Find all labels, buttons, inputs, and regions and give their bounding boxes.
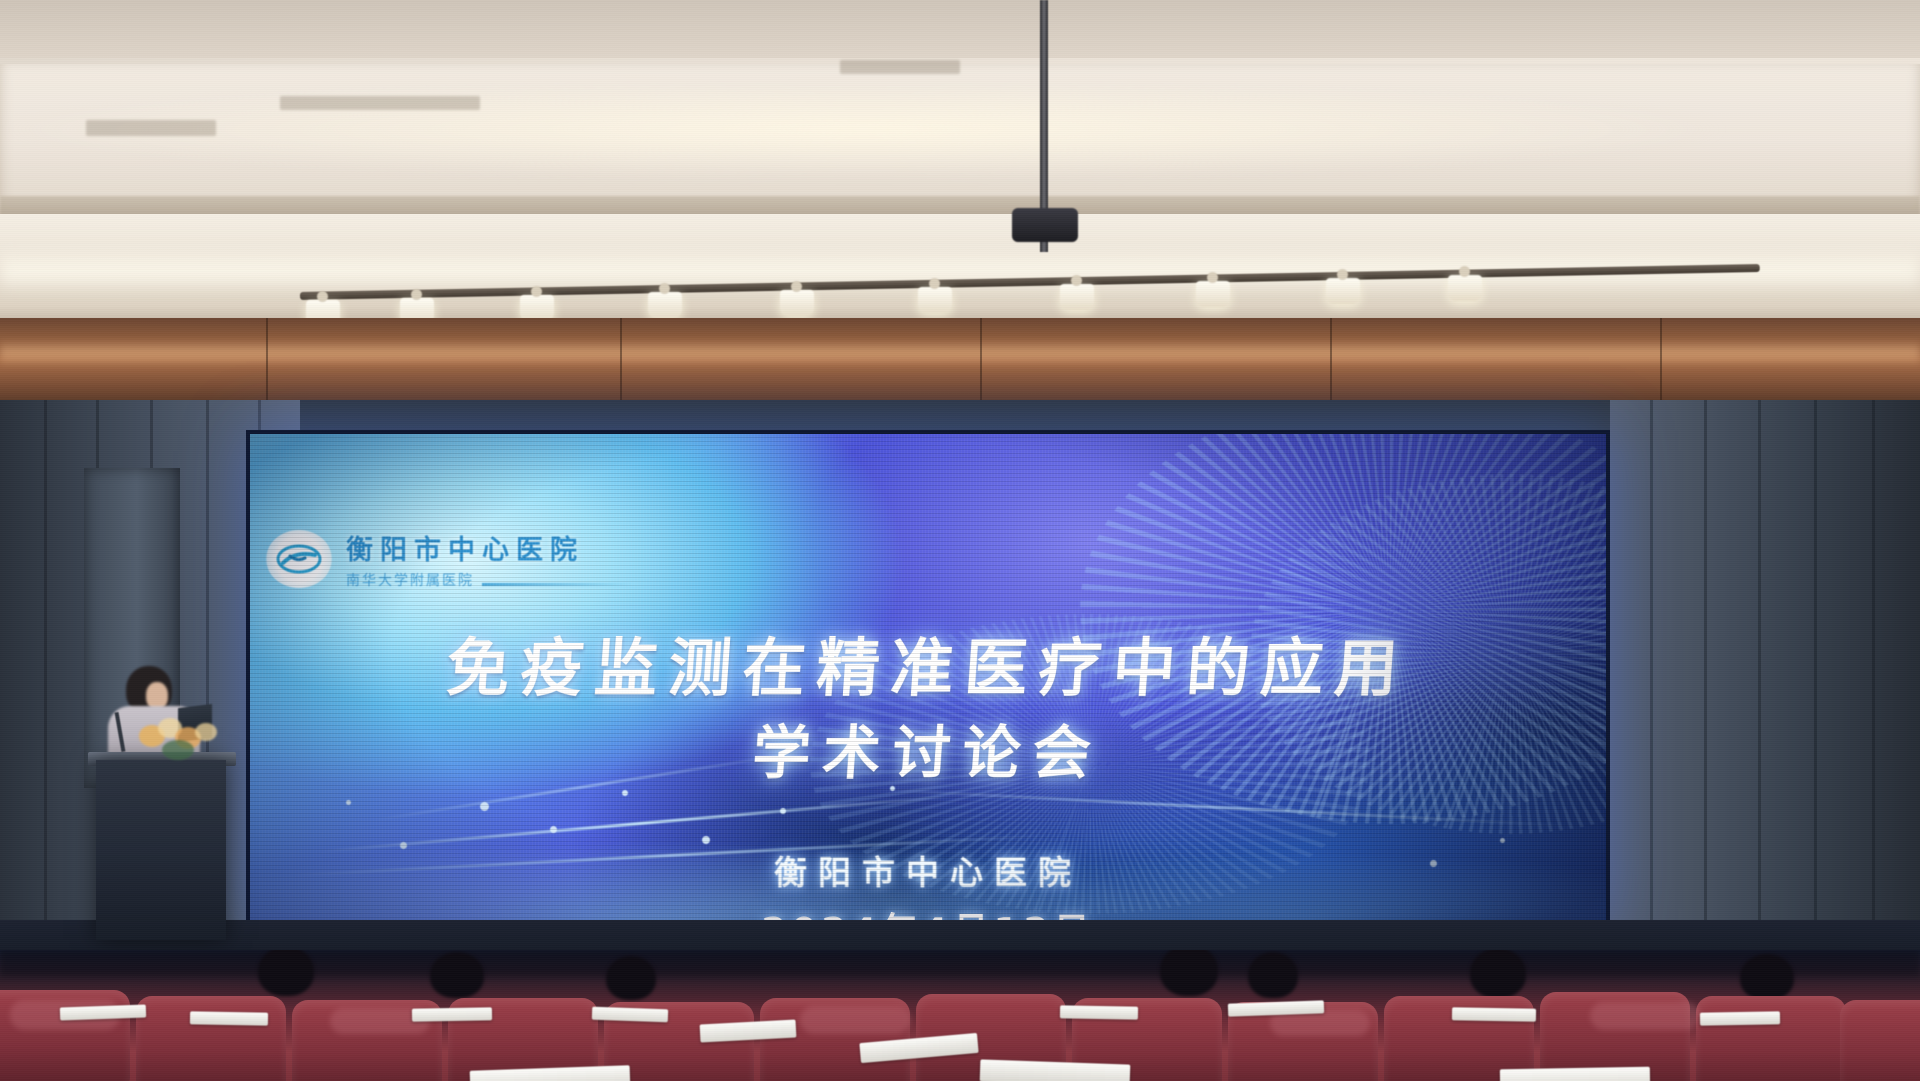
right-wall-curtain	[1610, 400, 1920, 920]
ceiling-vent	[280, 96, 480, 110]
valance-seam	[1660, 318, 1662, 410]
audience-seat	[1696, 996, 1846, 1081]
track-spotlight-icon	[780, 290, 814, 316]
valance-seam	[620, 318, 622, 410]
audience-head	[1740, 954, 1794, 1000]
ceiling-vent	[840, 60, 960, 74]
handout-paper	[592, 1007, 668, 1023]
conference-hall-photo: 衡阳市中心医院 南华大学附属医院 免疫监测在精准医疗中的应用 学术讨论会 衡阳市…	[0, 0, 1920, 1081]
handout-paper	[1060, 1005, 1138, 1019]
handout-paper	[190, 1011, 268, 1025]
track-spotlight-icon	[648, 292, 682, 318]
audience-head	[258, 950, 314, 996]
valance-highlight	[0, 340, 1920, 366]
handout-paper	[60, 1005, 146, 1021]
flower-arrangement	[136, 708, 222, 764]
handout-paper	[1452, 1007, 1536, 1021]
audience-head	[1248, 952, 1298, 998]
ceiling	[0, 0, 1920, 330]
led-vignette	[250, 434, 1606, 926]
seat-highlight	[1590, 1002, 1700, 1030]
audience-head	[1470, 950, 1526, 998]
audience-seat	[1840, 1000, 1920, 1081]
handout-paper	[412, 1007, 492, 1021]
audience-seating	[0, 950, 1920, 1081]
ceiling-speaker-icon	[1012, 208, 1078, 242]
valance-seam	[266, 318, 268, 410]
audience-head	[606, 956, 656, 1000]
audience-seat	[136, 996, 286, 1081]
led-presentation-screen[interactable]: 衡阳市中心医院 南华大学附属医院 免疫监测在精准医疗中的应用 学术讨论会 衡阳市…	[250, 434, 1606, 926]
track-spotlight-icon	[1448, 275, 1482, 301]
track-spotlight-icon	[1196, 281, 1230, 307]
seat-highlight	[800, 1006, 910, 1034]
ceiling-upper-band	[0, 0, 1920, 58]
valance-seam	[1330, 318, 1332, 410]
audience-head	[430, 952, 484, 998]
valance-seam	[980, 318, 982, 410]
podium	[96, 760, 226, 940]
track-spotlight-icon	[918, 287, 952, 313]
audience-head	[1160, 950, 1218, 996]
handout-paper	[1700, 1011, 1780, 1025]
ceiling-vent	[86, 120, 216, 136]
track-spotlight-icon	[1060, 284, 1094, 310]
track-spotlight-icon	[1326, 278, 1360, 304]
handout-paper	[1500, 1067, 1650, 1081]
